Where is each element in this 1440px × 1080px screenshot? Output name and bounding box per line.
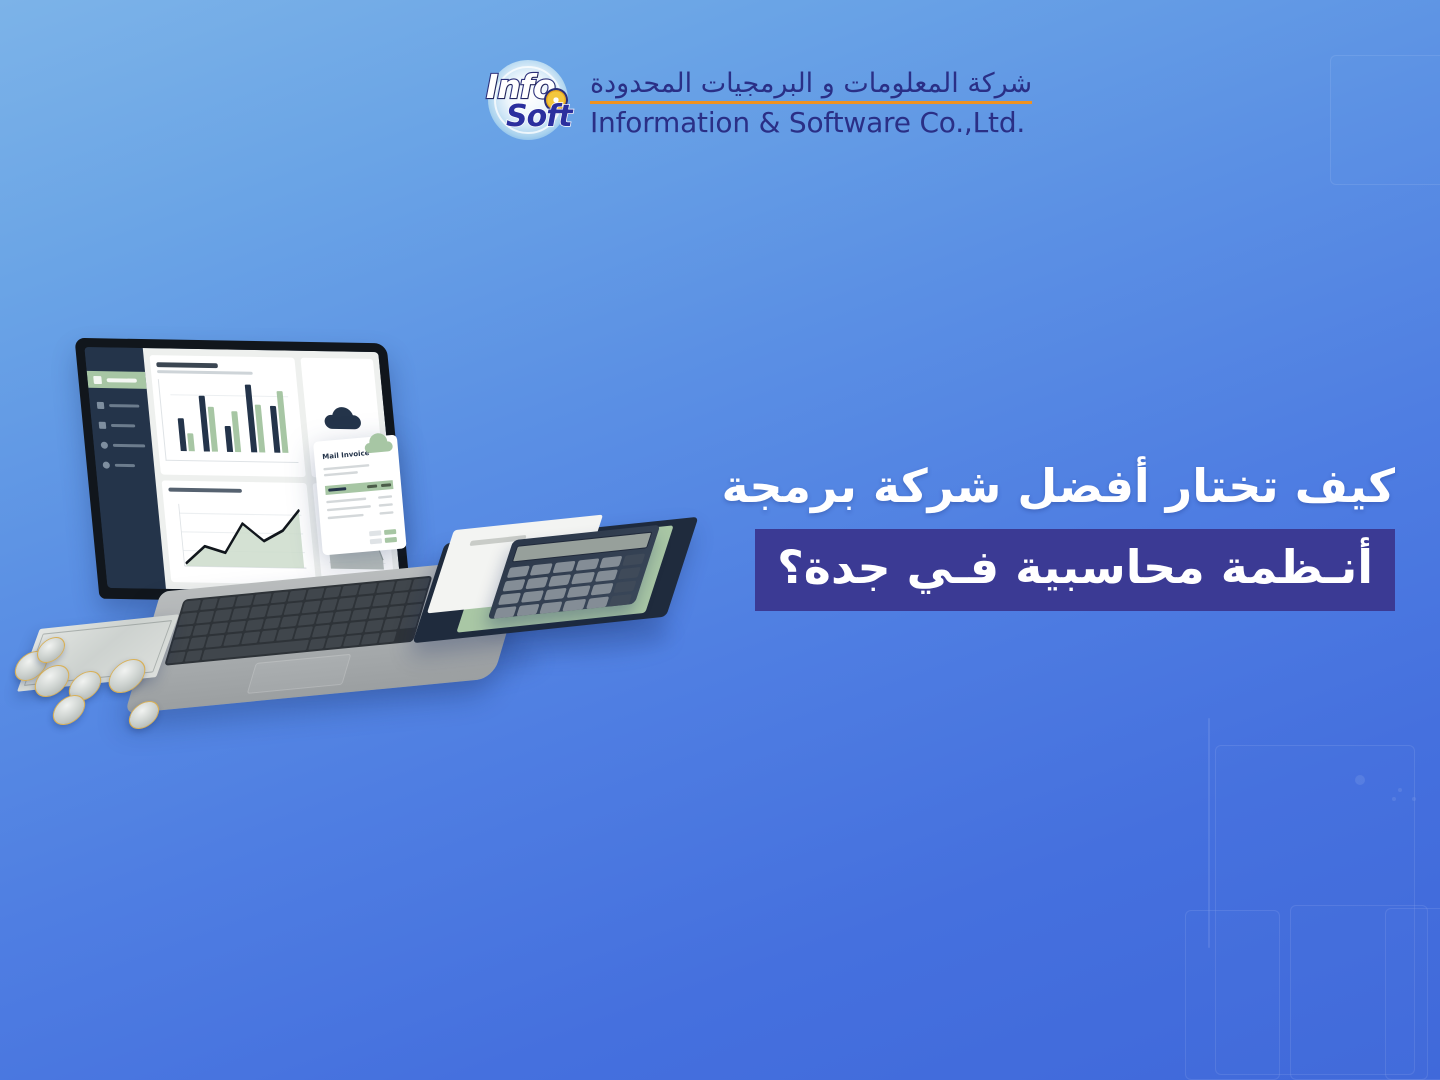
- sidebar-item-label: [109, 404, 139, 408]
- deco-rect: [1185, 910, 1280, 1080]
- sidebar-item-documents[interactable]: [92, 422, 151, 430]
- infosoft-logo-mark: Info Soft: [484, 58, 576, 150]
- promo-banner-canvas: Info Soft شركة المعلومات و البرمجيات الم…: [0, 0, 1440, 1080]
- invoice-card: Mail Invoice: [310, 432, 410, 562]
- document-icon: [99, 422, 107, 429]
- deco-dot: [1398, 788, 1402, 792]
- cloud-icon: [323, 407, 361, 430]
- bar-dark: [177, 418, 186, 451]
- sidebar-item-label: [115, 464, 135, 467]
- bar-chart: [158, 379, 299, 463]
- sidebar-item-reports[interactable]: [90, 402, 149, 410]
- deco-dot: [1355, 775, 1365, 785]
- home-icon: [93, 375, 102, 383]
- bar-group: [224, 411, 242, 452]
- deco-dot: [1392, 797, 1396, 801]
- coin: [49, 694, 89, 727]
- gear-icon: [101, 442, 109, 449]
- bar-group: [199, 396, 218, 452]
- headline-line-2: أنـظمة محاسبية فـي جدة؟: [777, 539, 1373, 597]
- bar-dark: [225, 426, 234, 452]
- sidebar-item-label: [113, 444, 145, 448]
- deco-rect: [1385, 908, 1440, 1080]
- laptop-trackpad[interactable]: [247, 654, 352, 694]
- deco-rect: [1290, 905, 1428, 1080]
- user-icon: [102, 462, 110, 469]
- sidebar-item-profile[interactable]: [95, 461, 154, 469]
- illustration-scene: Mail Invoice: [0, 330, 760, 760]
- logo-soft-wordmark: Soft: [506, 102, 572, 132]
- bar-group: [245, 385, 266, 453]
- card-title: [156, 362, 218, 368]
- bar-chart-card: [149, 355, 305, 477]
- card-subtitle: [157, 370, 253, 375]
- line-chart-card: [162, 481, 317, 585]
- headline-highlight-box: أنـظمة محاسبية فـي جدة؟: [755, 529, 1395, 611]
- brand-logo[interactable]: Info Soft شركة المعلومات و البرمجيات الم…: [484, 58, 1032, 150]
- deco-rect: [1330, 55, 1440, 185]
- bar-group: [177, 418, 194, 451]
- bar-green: [232, 411, 242, 452]
- bar-dark: [199, 396, 210, 452]
- sidebar-item-label: [111, 424, 135, 427]
- brand-name-english: Information & Software Co.,Ltd.: [590, 107, 1032, 139]
- clipboard-calculator-group: [418, 510, 708, 670]
- sidebar-active-label: [106, 378, 137, 383]
- deco-rect: [1215, 745, 1415, 1075]
- sidebar-item-active[interactable]: [87, 371, 147, 389]
- bar-green: [187, 433, 195, 451]
- deco-dot: [1412, 797, 1416, 801]
- brand-underline: [590, 101, 1032, 104]
- chart-bar-icon: [97, 402, 105, 409]
- line-chart: [169, 498, 309, 578]
- coin: [125, 700, 162, 731]
- brand-name-block: شركة المعلومات و البرمجيات المحدودة Info…: [590, 68, 1032, 139]
- sidebar-item-settings[interactable]: [93, 442, 152, 450]
- card-title: [168, 488, 241, 493]
- brand-name-arabic: شركة المعلومات و البرمجيات المحدودة: [590, 68, 1032, 99]
- bar-group: [269, 391, 289, 453]
- deco-line: [1208, 718, 1210, 948]
- money-group: [10, 615, 210, 735]
